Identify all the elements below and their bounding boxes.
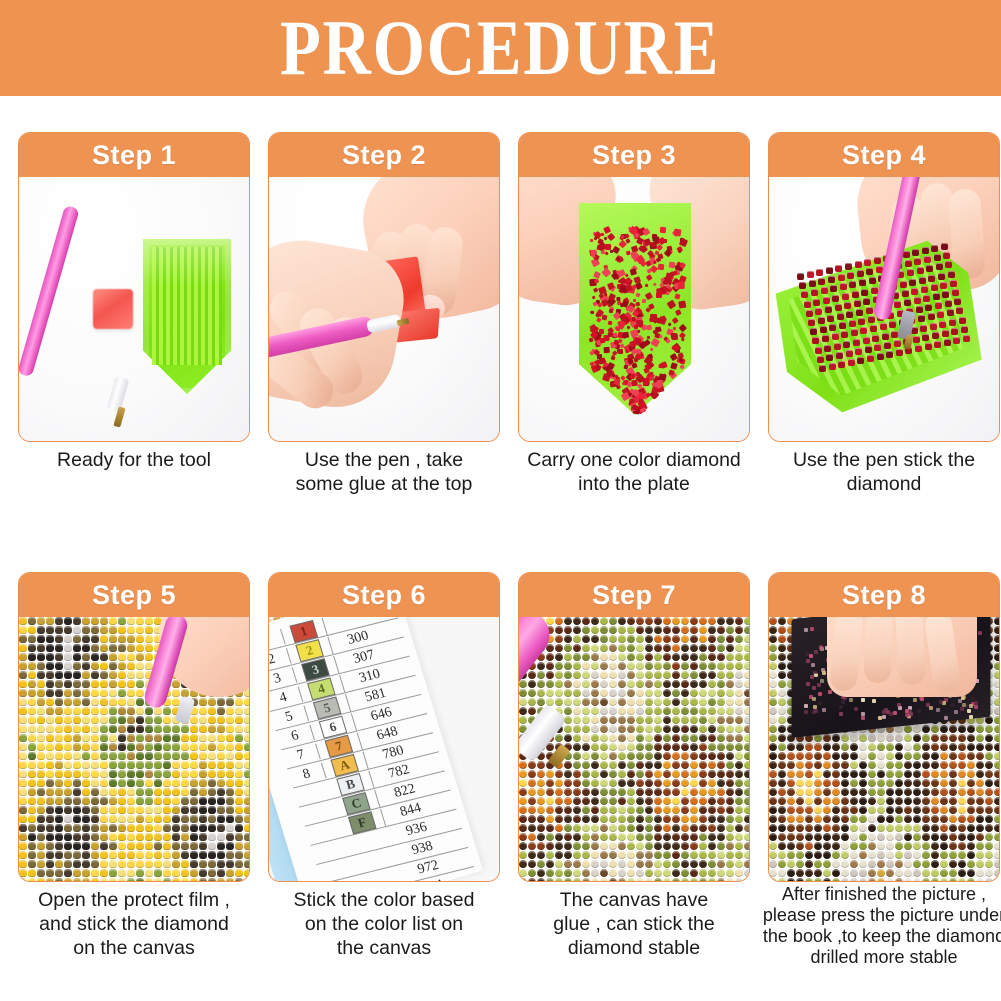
step-8-title: Step 8 [842, 580, 926, 611]
color-list-symbol [348, 836, 390, 846]
step-card-6[interactable]: Step 6 112230033307443105558166646776488… [268, 572, 500, 882]
step-7-title: Step 7 [592, 580, 676, 611]
step-2-title: Step 2 [342, 140, 426, 171]
step-card-8-frame: Step 8 [768, 572, 1000, 882]
caption-line: The canvas have [512, 888, 756, 912]
step-5-header: Step 5 [19, 573, 249, 617]
step-6-photo: 112230033307443105558166646776488A780B78… [269, 617, 499, 881]
glue-square-icon [93, 289, 133, 329]
step-2-header: Step 2 [269, 133, 499, 177]
step-1-header: Step 1 [19, 133, 249, 177]
caption-line: on the color list on [262, 912, 506, 936]
step-card-5[interactable]: Step 5 Open the protect film , and stick… [18, 572, 250, 882]
step-card-2[interactable]: Step 2 [268, 132, 500, 442]
caption-line: on the canvas [12, 936, 256, 960]
color-list-no [319, 866, 353, 874]
step-1-photo [19, 177, 249, 441]
step-4-caption: Use the pen stick the diamond [762, 448, 1001, 496]
step-6-caption: Stick the color based on the color list … [262, 888, 506, 960]
color-list-no [296, 789, 330, 797]
step-7-header: Step 7 [519, 573, 749, 617]
caption-line: some glue at the top [262, 472, 506, 496]
page-title: PROCEDURE [280, 9, 720, 87]
red-diamond-pile [519, 177, 749, 441]
step-card-4[interactable]: Step 4 Use the pen stick the diamo [768, 132, 1000, 442]
step-3-title: Step 3 [592, 140, 676, 171]
step-4-photo [769, 177, 999, 441]
step-7-photo [519, 617, 749, 881]
caption-line: glue , can stick the [512, 912, 756, 936]
caption-line: Carry one color diamond [512, 448, 756, 472]
caption-line: please press the picture under [762, 905, 1001, 926]
caption-line: into the plate [512, 472, 756, 496]
step-1-title: Step 1 [92, 140, 176, 171]
step-6-title: Step 6 [342, 580, 426, 611]
step-6-header: Step 6 [269, 573, 499, 617]
step-1-caption: Ready for the tool [12, 448, 256, 472]
step-5-photo [19, 617, 249, 881]
color-list-no [302, 808, 336, 816]
step-8-photo [769, 617, 999, 881]
color-list-symbol [359, 874, 401, 881]
color-list-symbol [353, 855, 395, 865]
step-card-4-frame: Step 4 [768, 132, 1000, 442]
step-card-3[interactable]: Step 3 Carry one color diamond into the … [518, 132, 750, 442]
caption-line: Use the pen stick the [762, 448, 1001, 472]
step-card-5-frame: Step 5 [18, 572, 250, 882]
step-4-title: Step 4 [842, 140, 926, 171]
step-3-caption: Carry one color diamond into the plate [512, 448, 756, 496]
step-8-header: Step 8 [769, 573, 999, 617]
caption-line: diamond stable [512, 936, 756, 960]
step-card-1-frame: Step 1 [18, 132, 250, 442]
step-8-caption: After finished the picture , please pres… [762, 884, 1001, 968]
step-3-header: Step 3 [519, 133, 749, 177]
caption-line: Open the protect film , [12, 888, 256, 912]
step-card-1[interactable]: Step 1 Ready for the tool [18, 132, 250, 442]
caption-line: diamond [762, 472, 1001, 496]
step-card-7[interactable]: Step 7 The canvas have glue , can stick … [518, 572, 750, 882]
color-list-no [308, 827, 342, 835]
caption-line: drilled more stable [762, 947, 1001, 968]
step-2-photo [269, 177, 499, 441]
step-2-caption: Use the pen , take some glue at the top [262, 448, 506, 496]
step-4-header: Step 4 [769, 133, 999, 177]
caption-line: After finished the picture , [762, 884, 1001, 905]
step-card-3-frame: Step 3 [518, 132, 750, 442]
caption-line: the book ,to keep the diamond [762, 926, 1001, 947]
color-list-no [314, 847, 348, 855]
caption-line: Use the pen , take [262, 448, 506, 472]
step-card-7-frame: Step 7 [518, 572, 750, 882]
step-card-6-frame: Step 6 112230033307443105558166646776488… [268, 572, 500, 882]
step-5-title: Step 5 [92, 580, 176, 611]
step-3-photo [519, 177, 749, 441]
caption-line: Stick the color based [262, 888, 506, 912]
step-7-caption: The canvas have glue , can stick the dia… [512, 888, 756, 960]
step-card-2-frame: Step 2 [268, 132, 500, 442]
step-5-caption: Open the protect film , and stick the di… [12, 888, 256, 960]
page-banner: PROCEDURE [0, 0, 1001, 96]
caption-line: the canvas [262, 936, 506, 960]
caption-line: and stick the diamond [12, 912, 256, 936]
step-card-8[interactable]: Step 8 After finished the picture , plea… [768, 572, 1000, 882]
diamond-canvas [519, 617, 749, 881]
